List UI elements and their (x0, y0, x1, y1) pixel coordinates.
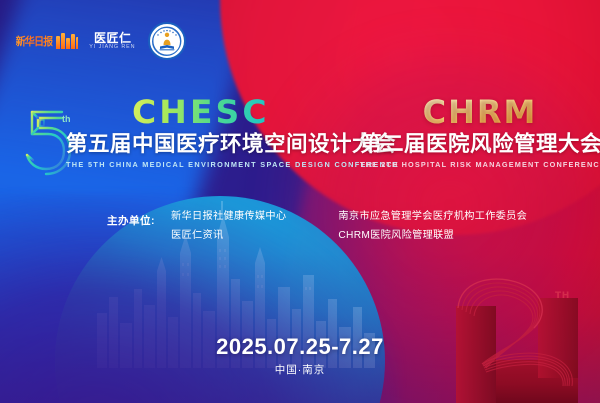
organizer-item: 南京市应急管理学会医疗机构工作委员会 (338, 212, 527, 222)
decorative-numeral-suffix: TH (555, 291, 570, 301)
xinhua-daily-logo-bars (56, 33, 78, 49)
chesc-title-block: CHESC 第五届中国医疗环境空间设计大会 THE 5TH CHINA MEDI… (66, 96, 346, 169)
organizers-column-2: 南京市应急管理学会医疗机构工作委员会 CHRM医院风险管理联盟 (338, 212, 527, 241)
sponsor-logo-bar: 新华日报 医匠仁 YI JIANG REN (16, 22, 186, 60)
event-datetime-section: 2025.07.25-7.27 中国·南京 (0, 336, 600, 376)
chrm-title-en: THE 2TH HOSPITAL RISK MANAGEMENT CONFERE… (360, 160, 600, 169)
organizers-label: 主办单位: (107, 212, 155, 228)
organizer-item: CHRM医院风险管理联盟 (338, 231, 527, 241)
xinhua-daily-logo-text: 新华日报 (16, 33, 52, 49)
chesc-title-cn: 第五届中国医疗环境空间设计大会 (66, 133, 346, 156)
chrm-title-block: CHRM 第二届医院风险管理大会 THE 2TH HOSPITAL RISK M… (360, 96, 600, 169)
xinhua-daily-logo[interactable]: 新华日报 (16, 30, 78, 52)
yijiangren-logo-cn: 医匠仁 (94, 32, 132, 44)
yijiangren-logo[interactable]: 医匠仁 YI JIANG REN (94, 32, 132, 50)
conference-poster: TH 新华日报 医匠仁 YI JIANG REN (0, 0, 600, 403)
event-date: 2025.07.25-7.27 (0, 336, 600, 358)
organizers-columns: 新华日报社健康传媒中心 医匠仁资讯 南京市应急管理学会医疗机构工作委员会 CHR… (171, 212, 527, 241)
event-location: 中国·南京 (0, 365, 600, 376)
association-seal-icon (152, 26, 182, 56)
organizers-column-1: 新华日报社健康传媒中心 医匠仁资讯 (171, 212, 286, 241)
organizers-section: 主办单位: 新华日报社健康传媒中心 医匠仁资讯 南京市应急管理学会医疗机构工作委… (107, 212, 527, 241)
association-seal-logo[interactable] (148, 22, 186, 60)
conference-titles: th CHESC 第五届中国医疗环境空间设计大会 THE 5TH CHINA M… (0, 96, 600, 186)
chesc-title-en: THE 5TH CHINA MEDICAL ENVIRONMENT SPACE … (66, 160, 346, 169)
organizer-item: 医匠仁资讯 (171, 231, 286, 241)
organizer-item: 新华日报社健康传媒中心 (171, 212, 286, 222)
chesc-acronym: CHESC (132, 96, 352, 128)
chrm-acronym: CHRM (360, 96, 600, 128)
chrm-title-cn: 第二届医院风险管理大会 (360, 133, 600, 156)
yijiangren-logo-en: YI JIANG REN (90, 46, 136, 51)
